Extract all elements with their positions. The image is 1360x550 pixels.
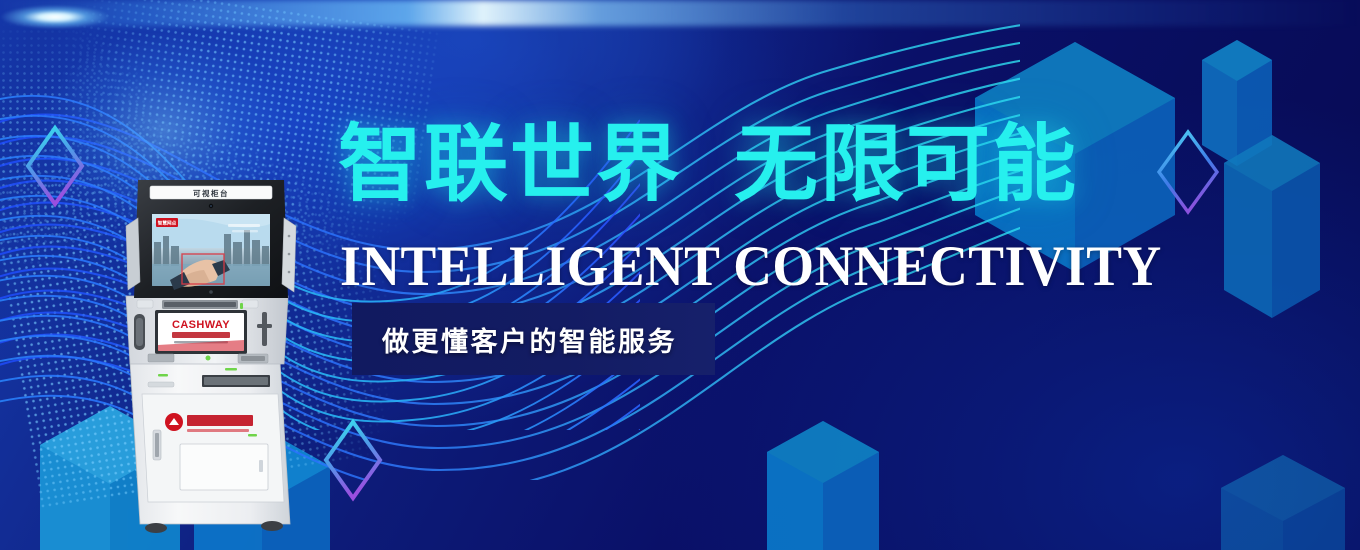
svg-text:智慧网点: 智慧网点 — [158, 220, 177, 227]
promo-banner: CASHWAY 可视柜台 — [0, 0, 1360, 550]
diamond-outline-left — [24, 124, 86, 208]
lens-flare-streak — [0, 0, 1360, 26]
svg-text:CASHWAY: CASHWAY — [172, 319, 230, 331]
tagline-chinese: 做更懂客户的智能服务 — [382, 320, 677, 359]
kiosk-machine: CASHWAY 可视柜台 — [112, 172, 312, 540]
diamond-outline-right — [1155, 128, 1221, 216]
diamond-outline-center — [322, 418, 384, 502]
subheadline-english: INTELLIGENT CONNECTIVITY — [340, 238, 1162, 295]
svg-text:可视柜台: 可视柜台 — [193, 188, 229, 198]
lens-flare-core — [0, 0, 110, 34]
headline-part-2: 无限可能 — [734, 117, 1078, 211]
headline-part-1: 智联世界 — [338, 117, 682, 211]
headline-chinese: 智联世界无限可能 — [338, 122, 1078, 206]
